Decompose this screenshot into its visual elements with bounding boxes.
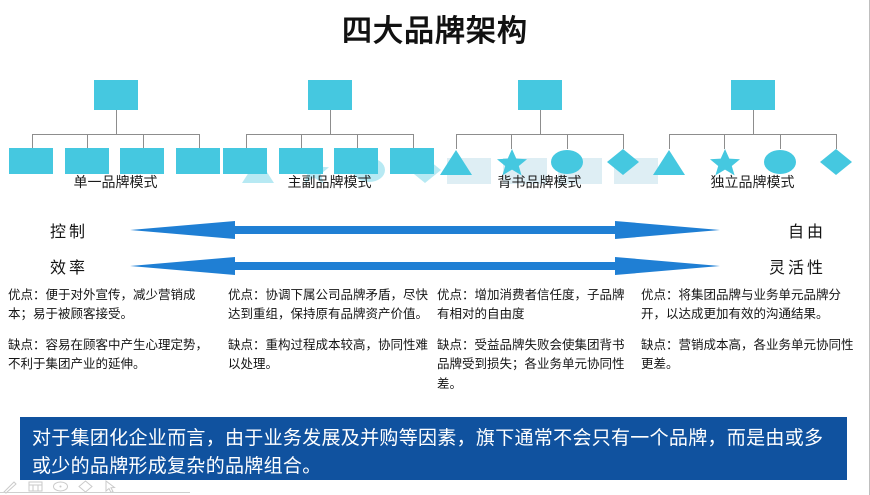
connector-leg — [87, 134, 88, 149]
rect-shape — [279, 148, 323, 174]
axis-control-freedom: 控制 自由 — [0, 212, 870, 248]
con-text: 缺点：受益品牌失败会使集团背书品牌受到损失；各业务单元协同性差。 — [437, 336, 633, 394]
axis-efficiency-flexibility: 效率 灵活性 — [0, 248, 870, 284]
caption-master-sub-brand: 主副品牌模式 — [222, 172, 437, 192]
connector-horizontal — [246, 134, 413, 135]
pros-cons-column: 优点：增加消费者信任度，子品牌有相对的自由度 缺点：受益品牌失败会使集团背书品牌… — [437, 286, 633, 394]
connector-leg — [780, 134, 781, 149]
pro-text: 优点：便于对外宣传，减少营销成本；易于被顾客接受。 — [8, 286, 213, 325]
caption-single-brand: 单一品牌模式 — [8, 172, 223, 192]
double-arrow-icon — [130, 212, 720, 248]
rect-shape — [176, 148, 220, 174]
axis-label-left: 效率 — [50, 254, 88, 278]
rect-shape — [120, 148, 164, 174]
connector-leg — [32, 134, 33, 149]
connector-stem — [116, 110, 117, 134]
con-text: 缺点：营销成本高，各业务单元协同性更差。 — [641, 336, 861, 375]
root-brand-node — [518, 80, 562, 110]
pros-cons-columns: 优点：便于对外宣传，减少营销成本；易于被顾客接受。 缺点：容易在顾客中产生心理定… — [0, 286, 870, 396]
connector-horizontal — [32, 134, 199, 135]
pro-text: 优点：协调下属公司品牌矛盾，尽快达到重组，保持原有品牌资产价值。 — [228, 286, 428, 325]
model-captions: 单一品牌模式 主副品牌模式 背书品牌模式 独立品牌模式 — [0, 172, 870, 194]
connector-stem — [330, 110, 331, 134]
pros-cons-column: 优点：协调下属公司品牌矛盾，尽快达到重组，保持原有品牌资产价值。 缺点：重构过程… — [228, 286, 428, 375]
connector-leg — [143, 134, 144, 149]
connector-leg — [413, 134, 414, 149]
caption-endorsed-brand: 背书品牌模式 — [432, 172, 647, 192]
rect-shape — [65, 148, 109, 174]
page-title: 四大品牌架构 — [0, 6, 870, 50]
connector-horizontal — [456, 134, 623, 135]
toolbar-divider — [0, 492, 190, 493]
connector-leg — [511, 134, 512, 149]
presentation-slide: 四大品牌架构 — [0, 0, 870, 495]
connector-leg — [357, 134, 358, 149]
con-text: 缺点：重构过程成本较高，协同性难以处理。 — [228, 336, 428, 375]
caption-independent-brand: 独立品牌模式 — [645, 172, 860, 192]
connector-leg — [301, 134, 302, 149]
connector-leg — [456, 134, 457, 149]
rect-shape — [223, 148, 267, 174]
connector-leg — [724, 134, 725, 149]
connector-leg — [567, 134, 568, 149]
summary-banner-text: 对于集团化企业而言，由于业务发展及并购等因素，旗下通常不会只有一个品牌，而是由或… — [32, 425, 837, 480]
rect-shape — [390, 148, 434, 174]
connector-leg — [836, 134, 837, 149]
con-text: 缺点：容易在顾客中产生心理定势，不利于集团产业的延伸。 — [8, 336, 213, 375]
axis-label-left: 控制 — [50, 218, 88, 242]
double-arrow-icon — [130, 248, 720, 284]
root-brand-node — [308, 80, 352, 110]
connector-horizontal — [669, 134, 836, 135]
pro-text: 优点：将集团品牌与业务单元品牌分开，以达成更加有效的沟通结果。 — [641, 286, 861, 325]
pro-text: 优点：增加消费者信任度，子品牌有相对的自由度 — [437, 286, 633, 325]
connector-leg — [669, 134, 670, 149]
connector-leg — [246, 134, 247, 149]
rect-shape — [9, 148, 53, 174]
pros-cons-column: 优点：将集团品牌与业务单元品牌分开，以达成更加有效的沟通结果。 缺点：营销成本高… — [641, 286, 861, 375]
connector-stem — [540, 110, 541, 134]
connector-leg — [623, 134, 624, 149]
rect-shape — [334, 148, 378, 174]
connector-stem — [753, 110, 754, 134]
axis-label-right: 灵活性 — [769, 254, 826, 278]
connector-leg — [199, 134, 200, 149]
root-brand-node — [94, 80, 138, 110]
root-brand-node — [731, 80, 775, 110]
axis-label-right: 自由 — [788, 218, 826, 242]
pros-cons-column: 优点：便于对外宣传，减少营销成本；易于被顾客接受。 缺点：容易在顾客中产生心理定… — [8, 286, 213, 375]
summary-banner: 对于集团化企业而言，由于业务发展及并购等因素，旗下通常不会只有一个品牌，而是由或… — [20, 417, 847, 480]
